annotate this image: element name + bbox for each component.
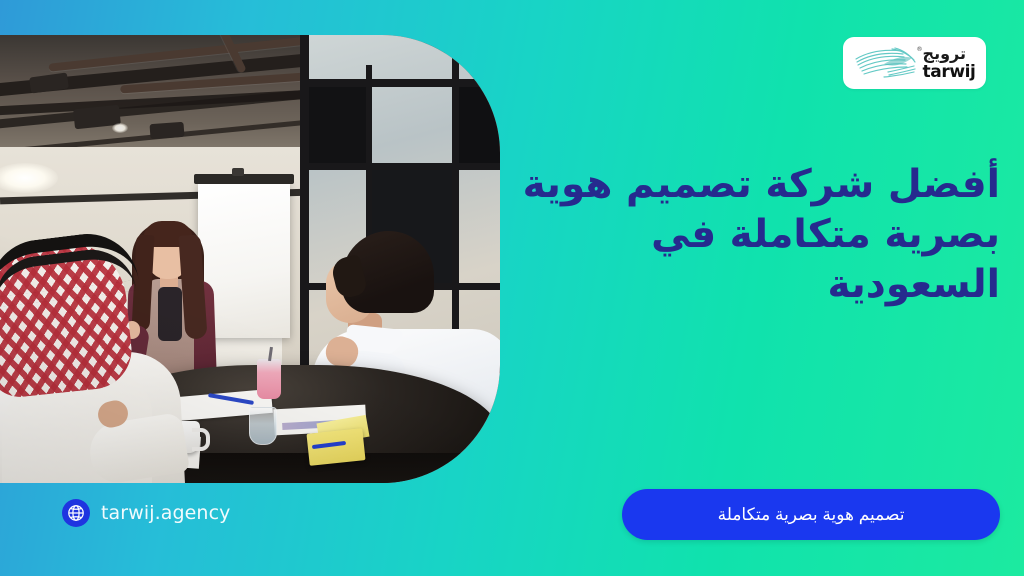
glass-pane <box>309 87 366 163</box>
window-mullion <box>300 163 500 170</box>
registered-mark: ® <box>917 47 923 53</box>
logo-wordmark: ® ترويج tarwij <box>923 46 976 81</box>
smoothie-cup <box>257 359 281 399</box>
photo-image <box>0 35 500 483</box>
logo-latin-label: tarwij <box>923 64 976 81</box>
page-title: أفضل شركة تصميم هوية بصرية متكاملة في ال… <box>500 160 1000 310</box>
light-glow <box>112 123 128 133</box>
tarwij-logo[interactable]: ® ترويج tarwij <box>843 37 986 89</box>
logo-arabic-label: ترويج <box>923 44 966 63</box>
ceiling-lamp <box>150 122 185 139</box>
glass-pane <box>459 87 500 163</box>
website-badge[interactable]: tarwij.agency <box>62 499 230 527</box>
attendee-keffiyeh-man <box>0 223 172 483</box>
website-url: tarwij.agency <box>101 502 230 524</box>
wave-swoosh-icon <box>854 46 916 80</box>
globe-icon <box>62 499 90 527</box>
meeting-photo <box>0 35 500 483</box>
window-mullion <box>300 79 500 87</box>
logo-arabic-text: ® ترويج <box>923 46 967 62</box>
cta-button[interactable]: تصميم هوية بصرية متكاملة <box>622 489 1000 540</box>
water-glass <box>249 407 277 445</box>
banner-canvas: ® ترويج tarwij أفضل شركة تصميم هوية <box>0 0 1024 576</box>
